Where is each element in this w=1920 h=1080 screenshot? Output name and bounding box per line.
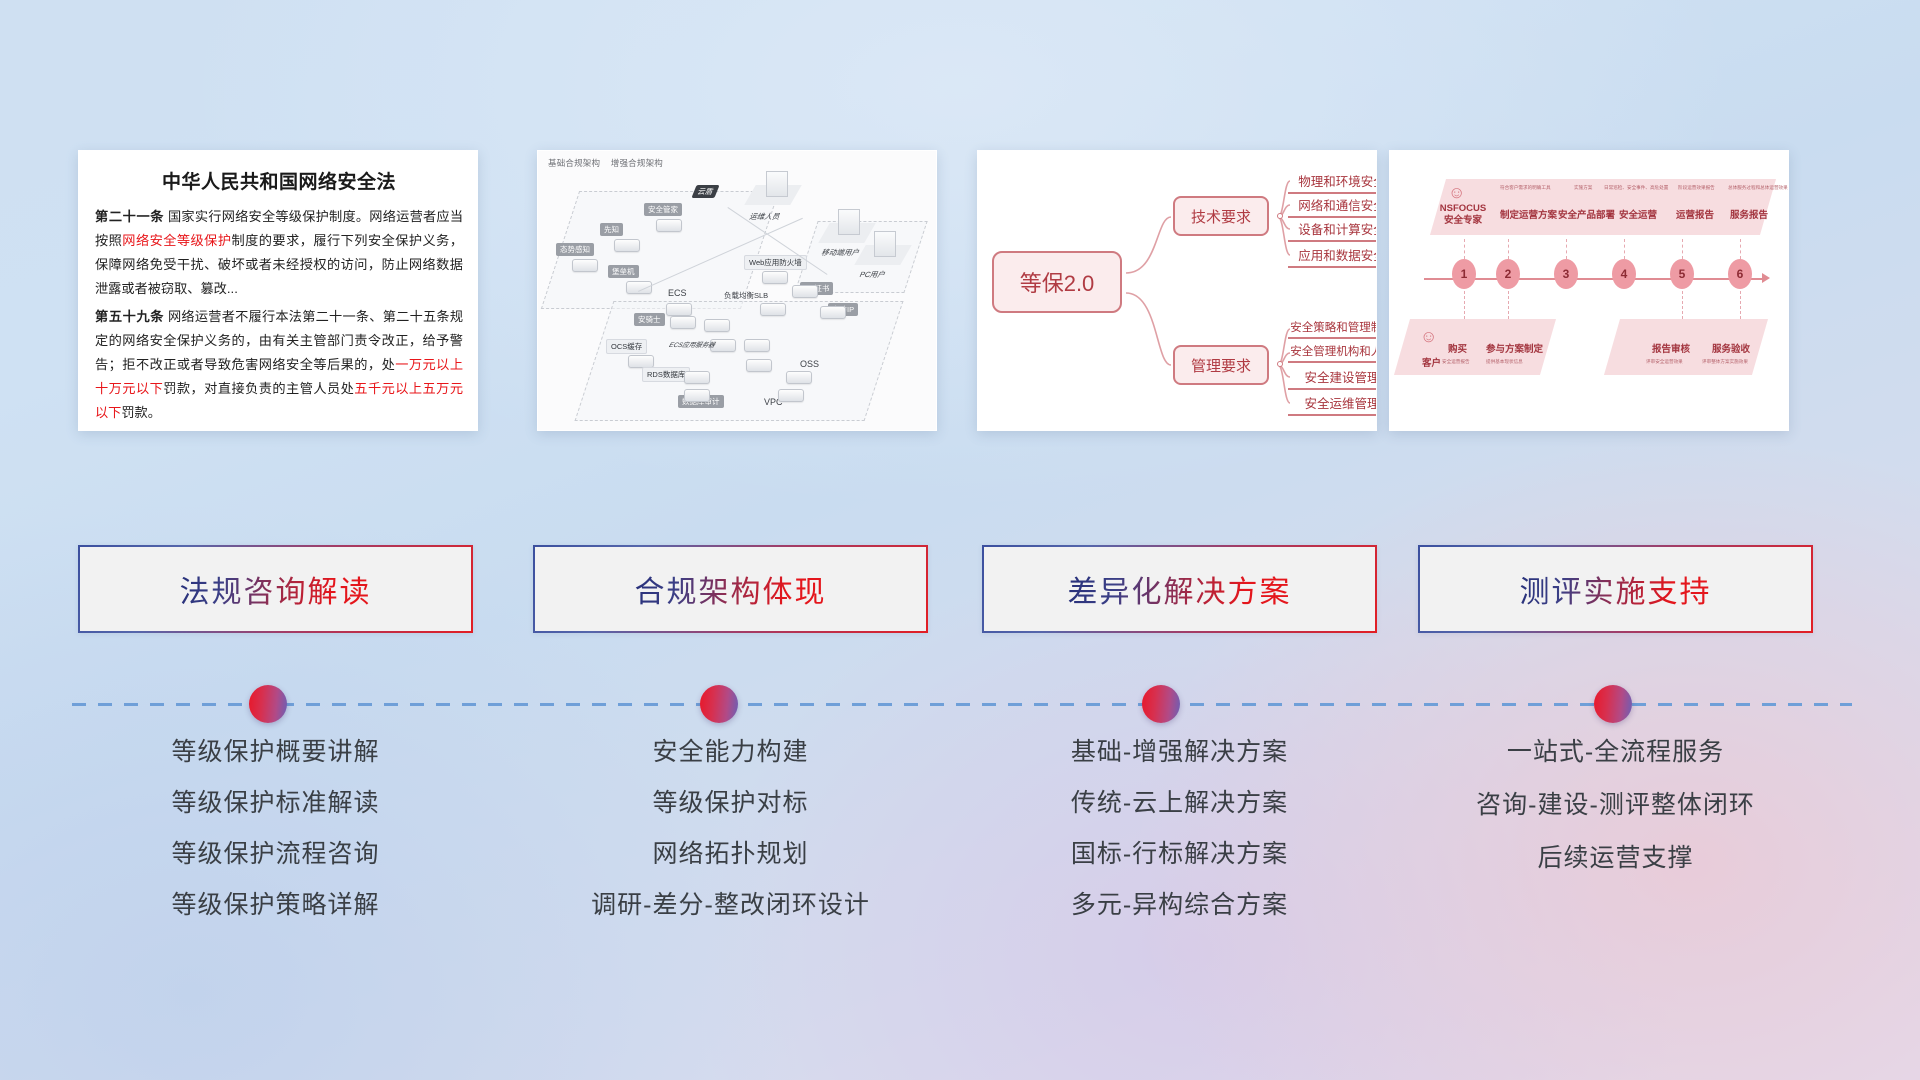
- heading-label-4: 测评实施支持: [1520, 567, 1712, 611]
- heading-card-differentiated-solution[interactable]: 差异化解决方案: [982, 545, 1377, 633]
- list-item: 调研-差分-整改闭环设计: [533, 893, 928, 918]
- timeline-dot-4[interactable]: [1594, 685, 1632, 723]
- detail-column-2: 安全能力构建 等级保护对标 网络拓扑规划 调研-差分-整改闭环设计: [533, 740, 928, 944]
- timeline-dashed-line: [72, 703, 1852, 706]
- arch-node-oss: OSS: [800, 359, 819, 369]
- arch-chip-vpc: [778, 389, 804, 402]
- card-compliance-architecture[interactable]: 基础合规架构 增强合规架构 云盾 安全管家 先知 态势感知 运维人员 移动端用: [537, 150, 937, 431]
- arch-server-pc: [874, 231, 896, 257]
- arch-node-bastion: 堡垒机: [608, 265, 639, 278]
- mindmap-leaf-mgmt-3: 安全建设管理: [1288, 367, 1377, 390]
- roadmap-connector-b1: [1464, 291, 1465, 319]
- timeline-dot-2[interactable]: [700, 685, 738, 723]
- list-item: 等级保护标准解读: [78, 791, 473, 816]
- arch-node-ecs: ECS: [668, 288, 687, 298]
- arch-node-security-butler: 安全管家: [644, 203, 682, 216]
- article-59-label: 第五十九条: [95, 309, 164, 324]
- roadmap-step2-sub: 符合客户需求的明确工具: [1500, 185, 1551, 191]
- arch-node-mobile-users: 移动端用户: [820, 247, 862, 258]
- roadmap-step4-title: 安全运营: [1619, 207, 1657, 221]
- card-cybersecurity-law[interactable]: 中华人民共和国网络安全法 第二十一条 国家实行网络安全等级保护制度。网络运营者应…: [78, 150, 478, 431]
- mindmap-leaf-tech-2: 网络和通信安全: [1288, 195, 1377, 218]
- roadmap-step6-title: 服务报告: [1730, 207, 1768, 221]
- article-21-highlight: 网络安全等级保护: [122, 233, 231, 248]
- list-item: 安全能力构建: [533, 740, 928, 765]
- mindmap-leaf-tech-3: 设备和计算安全: [1288, 219, 1377, 242]
- list-item: 咨询-建设-测评整体闭环: [1418, 793, 1813, 818]
- mindmap-leaf-mgmt-4: 安全运维管理: [1288, 393, 1377, 416]
- detail-column-1: 等级保护概要讲解 等级保护标准解读 等级保护流程咨询 等级保护策略详解: [78, 740, 473, 944]
- tab-enhanced-architecture[interactable]: 增强合规架构: [611, 158, 663, 168]
- tab-basic-architecture[interactable]: 基础合规架构: [548, 158, 600, 168]
- article-59-text-c: 罚款。: [121, 405, 161, 420]
- roadmap-connector-2: [1508, 239, 1509, 259]
- roadmap-connector-4: [1624, 239, 1625, 259]
- roadmap-step5-sub: 阶段运营效果报告: [1678, 185, 1715, 191]
- arch-chip-app-3: [744, 339, 770, 352]
- arch-chip-app-1: [704, 319, 730, 332]
- roadmap-bottom-4-title: 服务验收: [1712, 341, 1750, 355]
- roadmap-bottom-3-title: 报告审核: [1652, 341, 1690, 355]
- arch-node-situation-awareness: 态势感知: [556, 243, 594, 256]
- arch-chip-slb: [760, 303, 786, 316]
- roadmap-bottom-4-sub: 评审整体方案实施效果: [1702, 359, 1748, 365]
- mindmap-leaf-mgmt-2: 安全管理机构和人员: [1288, 343, 1377, 363]
- list-item: 国标-行标解决方案: [982, 842, 1377, 867]
- customer-person-icon: ☺: [1420, 327, 1437, 347]
- roadmap-step6-sub: 总体服务过程和总体运营效果: [1728, 185, 1788, 191]
- architecture-tabs: 基础合规架构 增强合规架构: [548, 157, 671, 169]
- roadmap-connector-3: [1566, 239, 1567, 259]
- roadmap-bottom-1-title: 购买: [1448, 341, 1467, 355]
- arch-chip-oss: [786, 371, 812, 384]
- roadmap-step-1[interactable]: 1: [1452, 259, 1476, 289]
- heading-card-assessment-support[interactable]: 测评实施支持: [1418, 545, 1813, 633]
- mindmap-leaf-tech-1: 物理和环境安全: [1288, 171, 1377, 194]
- roadmap-step-5[interactable]: 5: [1670, 259, 1694, 289]
- architecture-diagram: 基础合规架构 增强合规架构 云盾 安全管家 先知 态势感知 运维人员 移动端用: [538, 151, 936, 430]
- arch-chip-rds: [684, 371, 710, 384]
- detail-column-3: 基础-增强解决方案 传统-云上解决方案 国标-行标解决方案 多元-异构综合方案: [982, 740, 1377, 944]
- arch-zone-vpc: [575, 301, 904, 421]
- slide-canvas: 中华人民共和国网络安全法 第二十一条 国家实行网络安全等级保护制度。网络运营者应…: [0, 0, 1920, 1080]
- mindmap-branch-technical: 技术要求: [1173, 196, 1269, 236]
- roadmap-step5-title: 运营报告: [1676, 207, 1714, 221]
- roadmap-step4-sub: 日常巡检、安全事件、高危处置: [1604, 185, 1668, 191]
- arch-node-ops-staff: 运维人员: [748, 211, 782, 222]
- arch-chip-ca: [792, 285, 818, 298]
- arch-chip-anti-ddos: [820, 306, 846, 319]
- heading-row: 法规咨询解读 合规架构体现 差异化解决方案 测评实施支持: [0, 545, 1920, 640]
- arch-chip-app-4: [746, 359, 772, 372]
- roadmap-step-6[interactable]: 6: [1728, 259, 1752, 289]
- detail-column-4: 一站式-全流程服务 咨询-建设-测评整体闭环 后续运营支撑: [1418, 740, 1813, 899]
- arch-chip-ecs: [666, 303, 692, 316]
- roadmap-connector-6: [1740, 239, 1741, 259]
- mindmap-node-dot-technical: [1277, 213, 1283, 219]
- timeline-dot-3[interactable]: [1142, 685, 1180, 723]
- detail-list-row: 等级保护概要讲解 等级保护标准解读 等级保护流程咨询 等级保护策略详解 安全能力…: [0, 740, 1920, 960]
- list-item: 等级保护概要讲解: [78, 740, 473, 765]
- list-item: 网络拓扑规划: [533, 842, 928, 867]
- card-service-roadmap[interactable]: ☺ NSFOCUS安全专家 符合客户需求的明确工具 制定运营方案 实施方案 安全…: [1389, 150, 1789, 431]
- heading-label-2: 合规架构体现: [635, 567, 827, 611]
- arch-node-pc-users: PC用户: [858, 269, 888, 280]
- roadmap-step3-sub: 实施方案: [1574, 185, 1592, 191]
- list-item: 多元-异构综合方案: [982, 893, 1377, 918]
- arch-chip-situation-awareness: [572, 259, 598, 272]
- list-item: 等级保护策略详解: [78, 893, 473, 918]
- roadmap-connector-5: [1682, 239, 1683, 259]
- law-article-21: 第二十一条 国家实行网络安全等级保护制度。网络运营者应当按照网络安全等级保护制度…: [95, 205, 463, 301]
- arch-node-ocs-cache: OCS缓存: [606, 339, 647, 354]
- article-21-label: 第二十一条: [95, 209, 164, 224]
- arch-chip-waf: [762, 271, 788, 284]
- arch-server-ops: [766, 171, 788, 197]
- arch-chip-xianzhi: [614, 239, 640, 252]
- mindmap-leaf-mgmt-1: 安全策略和管理制度: [1288, 319, 1377, 339]
- roadmap-connector-b3: [1682, 291, 1683, 319]
- arch-server-mobile: [838, 209, 860, 235]
- roadmap-step-2[interactable]: 2: [1496, 259, 1520, 289]
- law-title: 中华人民共和国网络安全法: [95, 167, 463, 194]
- law-document: 中华人民共和国网络安全法 第二十一条 国家实行网络安全等级保护制度。网络运营者应…: [79, 151, 477, 430]
- roadmap-actor-customer: 客户: [1422, 355, 1441, 369]
- roadmap-step-3[interactable]: 3: [1554, 259, 1578, 289]
- mindmap-node-dot-management: [1277, 361, 1283, 367]
- roadmap-connector-b4: [1740, 291, 1741, 319]
- arch-node-slb: 负载均衡SLB: [724, 290, 768, 301]
- law-article-59: 第五十九条 网络运营者不履行本法第二十一条、第二十五条规定的网络安全保护义务的，…: [95, 305, 463, 425]
- roadmap-step2-title: 制定运营方案: [1500, 207, 1557, 221]
- mindmap-root: 等保2.0: [992, 251, 1122, 313]
- roadmap-actor-expert: NSFOCUS安全专家: [1434, 203, 1492, 227]
- roadmap-connector-1: [1464, 239, 1465, 259]
- arch-node-ecs-app-server: ECS应用服务器: [667, 339, 718, 349]
- arch-node-xianzhi: 先知: [600, 223, 623, 236]
- timeline-dot-1[interactable]: [249, 685, 287, 723]
- heading-card-regulation-consulting[interactable]: 法规咨询解读: [78, 545, 473, 633]
- mindmap: 等保2.0 技术要求 物理和环境安全 网络和通信安全 设备和计算安全 应用和数据…: [978, 151, 1376, 430]
- roadmap-diagram: ☺ NSFOCUS安全专家 符合客户需求的明确工具 制定运营方案 实施方案 安全…: [1390, 151, 1788, 430]
- card-dengbao-mindmap[interactable]: 等保2.0 技术要求 物理和环境安全 网络和通信安全 设备和计算安全 应用和数据…: [977, 150, 1377, 431]
- article-59-text-b: 罚款，对直接负责的主管人员处: [163, 381, 354, 396]
- arch-node-waf: Web应用防火墙: [744, 255, 807, 270]
- roadmap-step3-title: 安全产品部署: [1558, 207, 1615, 221]
- roadmap-bottom-3-sub: 评审安全运营效果: [1646, 359, 1683, 365]
- list-item: 等级保护对标: [533, 791, 928, 816]
- heading-label-1: 法规咨询解读: [180, 567, 372, 611]
- roadmap-bottom-2-title: 参与方案制定: [1486, 341, 1543, 355]
- timeline: [0, 680, 1920, 730]
- heading-card-compliance-architecture[interactable]: 合规架构体现: [533, 545, 928, 633]
- roadmap-bottom-1-sub: 安全运营报告: [1442, 359, 1470, 365]
- list-item: 后续运营支撑: [1418, 846, 1813, 871]
- list-item: 一站式-全流程服务: [1418, 740, 1813, 765]
- list-item: 等级保护流程咨询: [78, 842, 473, 867]
- roadmap-bottom-2-sub: 提供基本现状信息: [1486, 359, 1523, 365]
- heading-label-3: 差异化解决方案: [1068, 567, 1292, 611]
- mindmap-leaf-tech-4: 应用和数据安全: [1288, 245, 1377, 268]
- arch-chip-anqishi: [670, 316, 696, 329]
- list-item: 基础-增强解决方案: [982, 740, 1377, 765]
- roadmap-axis-arrow: [1762, 273, 1770, 283]
- mindmap-branch-management: 管理要求: [1173, 345, 1269, 385]
- image-card-row: 中华人民共和国网络安全法 第二十一条 国家实行网络安全等级保护制度。网络运营者应…: [0, 150, 1920, 440]
- roadmap-connector-b2: [1508, 291, 1509, 319]
- arch-chip-security-butler: [656, 219, 682, 232]
- list-item: 传统-云上解决方案: [982, 791, 1377, 816]
- arch-node-anqishi: 安骑士: [634, 313, 665, 326]
- expert-person-icon: ☺: [1448, 183, 1465, 203]
- arch-chip-db-audit: [684, 389, 710, 402]
- roadmap-step-4[interactable]: 4: [1612, 259, 1636, 289]
